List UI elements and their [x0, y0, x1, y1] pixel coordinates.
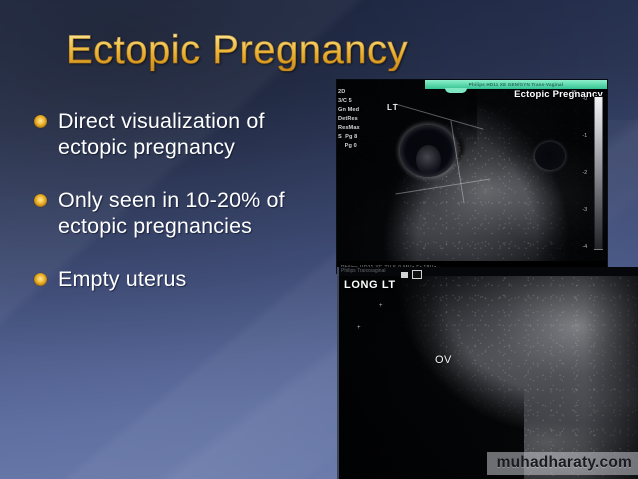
probe-marker-icon [401, 272, 408, 278]
yolk-sac [416, 145, 441, 175]
anatomy-label-ovary: OV [435, 354, 452, 366]
depth-scale: -0 -1 -2 -3 -4 [571, 96, 587, 258]
list-item-label: Direct visualization of ectopic pregnanc… [58, 108, 334, 160]
page-title: Ectopic Pregnancy [66, 29, 408, 71]
list-item-label: Empty uterus [58, 266, 186, 292]
list-item-label: Only seen in 10-20% of ectopic pregnanci… [58, 187, 334, 239]
scanner-status-notch [445, 88, 467, 93]
scanner-header-text: Philips Transvaginal [341, 267, 385, 276]
target-ring-bullet-icon [34, 115, 47, 128]
gain-grayscale-bar [594, 96, 603, 250]
bullet-list: Direct visualization of ectopic pregnanc… [34, 108, 334, 319]
target-ring-bullet-icon [34, 194, 47, 207]
depth-tick-label: -1 [582, 133, 587, 139]
ultrasound-caption: Ectopic Pregnancy [514, 89, 603, 100]
list-item: Direct visualization of ectopic pregnanc… [34, 108, 334, 160]
measurement-caret-icon: + [357, 325, 361, 331]
ultrasound-speckle-overlay [337, 267, 638, 479]
ultrasound-image-bottom: Philips Transvaginal LONG LT OV + + [337, 267, 638, 479]
depth-tick-label: -3 [582, 207, 587, 213]
measurement-caret-icon: + [379, 303, 383, 309]
roi-box-icon [412, 270, 422, 279]
watermark: muhadharaty.com [487, 452, 638, 475]
depth-tick-label: -4 [582, 244, 587, 250]
scanner-parameter-list: 2D 3/C 5 Gn Med DetRes ResMax S Pg 8 Pg … [338, 88, 360, 151]
presentation-slide: Ectopic Pregnancy Direct visualization o… [0, 0, 638, 479]
ultrasound-image-top: Philips HD11 XE GEN/GYN Trans-Vaginal Ec… [337, 80, 607, 273]
panel-left-border [337, 267, 339, 479]
scanner-icon-group [401, 270, 422, 279]
target-ring-bullet-icon [34, 273, 47, 286]
list-item: Empty uterus [34, 266, 334, 292]
gestational-sac [400, 125, 456, 177]
ultrasound-speckle-overlay [337, 80, 607, 273]
orientation-label-bottom: LONG LT [344, 279, 396, 291]
adjacent-cystic-structure [535, 142, 565, 170]
depth-tick-label: -2 [582, 170, 587, 176]
scanner-header-bar: Philips Transvaginal [337, 267, 638, 276]
list-item: Only seen in 10-20% of ectopic pregnanci… [34, 187, 334, 239]
depth-tick-label: -0 [582, 96, 587, 102]
orientation-label-top: LT [387, 103, 399, 112]
